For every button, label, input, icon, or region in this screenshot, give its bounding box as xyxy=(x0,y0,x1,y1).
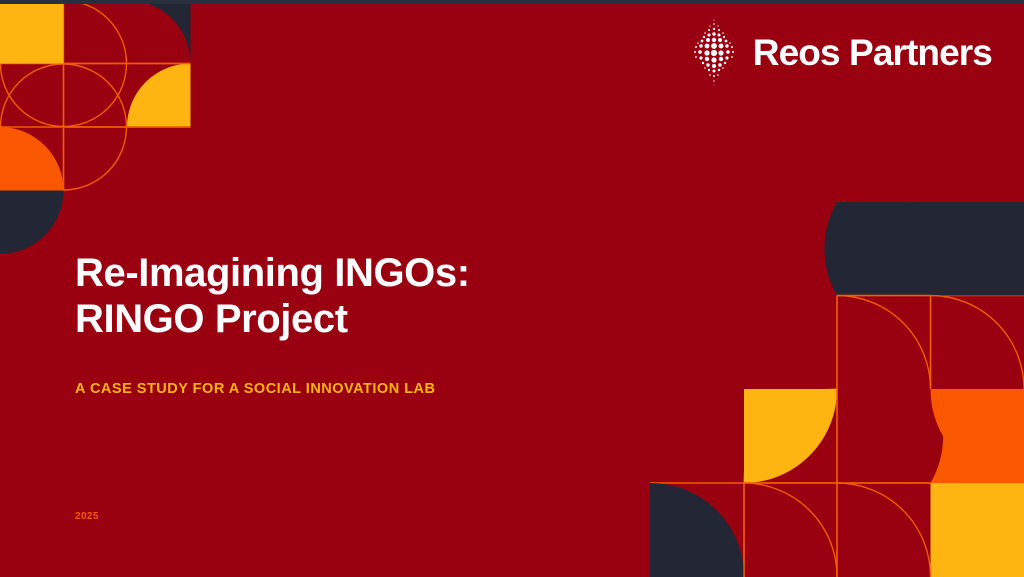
tl-circle-outline-lower xyxy=(1,64,127,190)
br-quarter-yellow-bottom-shape xyxy=(931,483,1024,577)
br-arc-outline-e xyxy=(837,483,931,577)
page-title: Re-Imagining INGOs: RINGO Project xyxy=(75,250,470,343)
tl-quarter-navy-03 xyxy=(0,191,64,255)
page-subtitle: A CASE STUDY FOR A SOCIAL INNOVATION LAB xyxy=(75,381,470,397)
tl-quarter-yellow-21 xyxy=(127,64,191,128)
tl-quarter-yellow-00 xyxy=(0,0,64,64)
br-quarter-navy-bottom xyxy=(650,483,744,577)
tl-quarter-navy-20 xyxy=(127,0,191,64)
br-arc-outline-a xyxy=(837,296,931,390)
brand-name: Reos Partners xyxy=(753,34,992,71)
title-slide: Reos Partners Re-Imagining INGOs: RINGO … xyxy=(0,0,1024,577)
top-edge-strip xyxy=(0,0,1024,4)
br-arc-outline-d xyxy=(744,483,837,577)
br-quarter-yellow-bottom xyxy=(931,483,1024,577)
br-quarter-orange-shape xyxy=(930,389,1024,483)
tl-circle-outline-upper xyxy=(1,1,127,127)
br-quarter-navy-top-shape xyxy=(837,202,1024,296)
top-left-geometric-cluster xyxy=(0,0,191,254)
tl-quarter-orange-02-fill xyxy=(0,127,64,191)
tl-grid-lines xyxy=(0,0,191,191)
tl-grid-lines-overlay xyxy=(64,64,191,191)
year-label: 2025 xyxy=(75,511,99,522)
reos-halftone-leaf-mark xyxy=(689,16,739,88)
br-grid-lines-overlay xyxy=(744,296,931,577)
br-quarter-yellow-mid xyxy=(744,389,837,483)
br-quarter-navy-top xyxy=(824,202,1024,296)
tl-quarter-orange-02 xyxy=(0,127,64,191)
title-block: Re-Imagining INGOs: RINGO Project A CASE… xyxy=(75,250,470,397)
brand-logo: Reos Partners xyxy=(689,16,992,88)
br-grid-lines xyxy=(650,296,1024,577)
br-arc-outline-c xyxy=(744,389,837,483)
br-quarter-orange xyxy=(931,389,1024,483)
tl-quarter-yellow-00-shape xyxy=(0,0,64,64)
br-arc-outline-b xyxy=(931,296,1024,390)
bottom-right-geometric-cluster xyxy=(650,202,1024,577)
